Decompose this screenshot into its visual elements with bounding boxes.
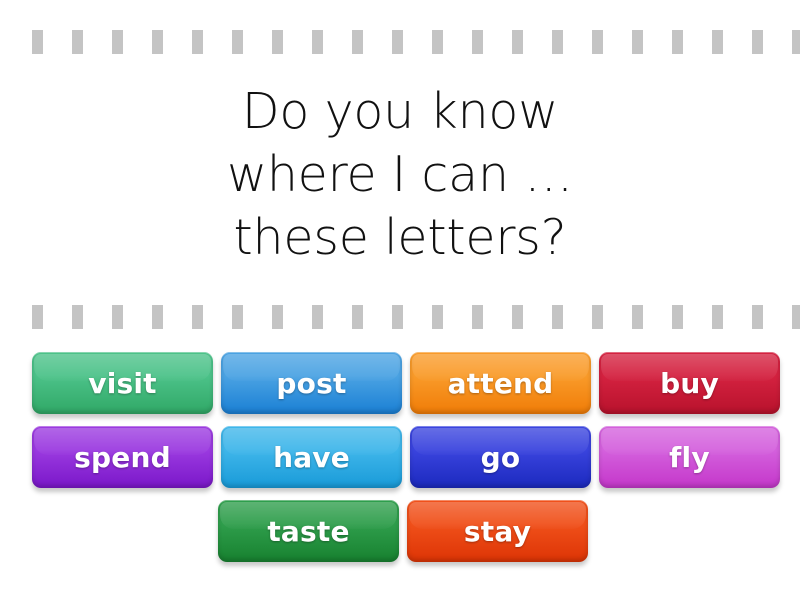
separator-dash xyxy=(232,305,243,329)
separator-dash xyxy=(312,305,323,329)
separator-dash xyxy=(552,305,563,329)
answer-tile-spend[interactable]: spend xyxy=(32,426,213,488)
separator-dash xyxy=(352,305,363,329)
separator-dash xyxy=(512,305,523,329)
answer-tile-row: tastestay xyxy=(0,500,800,562)
separator-dash xyxy=(112,30,123,54)
separator-dash xyxy=(192,30,203,54)
separator-dash xyxy=(752,305,763,329)
separator-dash xyxy=(672,30,683,54)
separator-dash xyxy=(192,305,203,329)
answer-tile-fly[interactable]: fly xyxy=(599,426,780,488)
separator-dash xyxy=(432,30,443,54)
answer-tile-row: spendhavegofly xyxy=(0,426,800,488)
answer-tile-go[interactable]: go xyxy=(410,426,591,488)
separator-dash xyxy=(792,30,800,54)
separator-dash xyxy=(272,30,283,54)
answer-tile-grid: visitpostattendbuyspendhavegoflytastesta… xyxy=(0,352,800,574)
separator-dash xyxy=(392,305,403,329)
separator-dash xyxy=(352,30,363,54)
separator-top xyxy=(0,30,800,54)
separator-dash xyxy=(312,30,323,54)
answer-tile-buy[interactable]: buy xyxy=(599,352,780,414)
answer-tile-label: stay xyxy=(464,515,531,548)
separator-dash xyxy=(112,305,123,329)
separator-dash xyxy=(712,305,723,329)
prompt-line-1: Do you know xyxy=(0,80,800,143)
answer-tile-label: visit xyxy=(88,367,157,400)
answer-tile-stay[interactable]: stay xyxy=(407,500,588,562)
answer-tile-taste[interactable]: taste xyxy=(218,500,399,562)
separator-dash xyxy=(712,30,723,54)
separator-dash xyxy=(632,30,643,54)
answer-tile-have[interactable]: have xyxy=(221,426,402,488)
answer-tile-label: fly xyxy=(669,441,710,474)
answer-tile-label: go xyxy=(481,441,521,474)
separator-dash xyxy=(792,305,800,329)
answer-tile-label: post xyxy=(276,367,346,400)
separator-dash xyxy=(592,305,603,329)
answer-tile-label: taste xyxy=(267,515,349,548)
separator-dash xyxy=(672,305,683,329)
separator-dash xyxy=(152,30,163,54)
answer-tile-row: visitpostattendbuy xyxy=(0,352,800,414)
separator-dash xyxy=(752,30,763,54)
separator-dash xyxy=(632,305,643,329)
separator-dash xyxy=(32,305,43,329)
answer-tile-attend[interactable]: attend xyxy=(410,352,591,414)
answer-tile-label: spend xyxy=(74,441,171,474)
separator-dash xyxy=(72,305,83,329)
separator-dash xyxy=(472,30,483,54)
separator-dash xyxy=(512,30,523,54)
separator-dash xyxy=(32,30,43,54)
separator-dash xyxy=(592,30,603,54)
prompt-line-2: where I can … xyxy=(0,143,800,206)
separator-dash xyxy=(552,30,563,54)
prompt-line-3: these letters? xyxy=(0,206,800,269)
answer-tile-label: have xyxy=(273,441,350,474)
answer-tile-visit[interactable]: visit xyxy=(32,352,213,414)
separator-dash xyxy=(152,305,163,329)
separator-dash xyxy=(392,30,403,54)
quiz-stage: Do you know where I can … these letters?… xyxy=(0,0,800,600)
separator-middle xyxy=(0,305,800,329)
answer-tile-post[interactable]: post xyxy=(221,352,402,414)
separator-dash xyxy=(232,30,243,54)
answer-tile-label: buy xyxy=(660,367,719,400)
prompt-question: Do you know where I can … these letters? xyxy=(0,80,800,269)
separator-dash xyxy=(472,305,483,329)
separator-dash xyxy=(432,305,443,329)
separator-dash xyxy=(72,30,83,54)
separator-dash xyxy=(272,305,283,329)
answer-tile-label: attend xyxy=(448,367,554,400)
